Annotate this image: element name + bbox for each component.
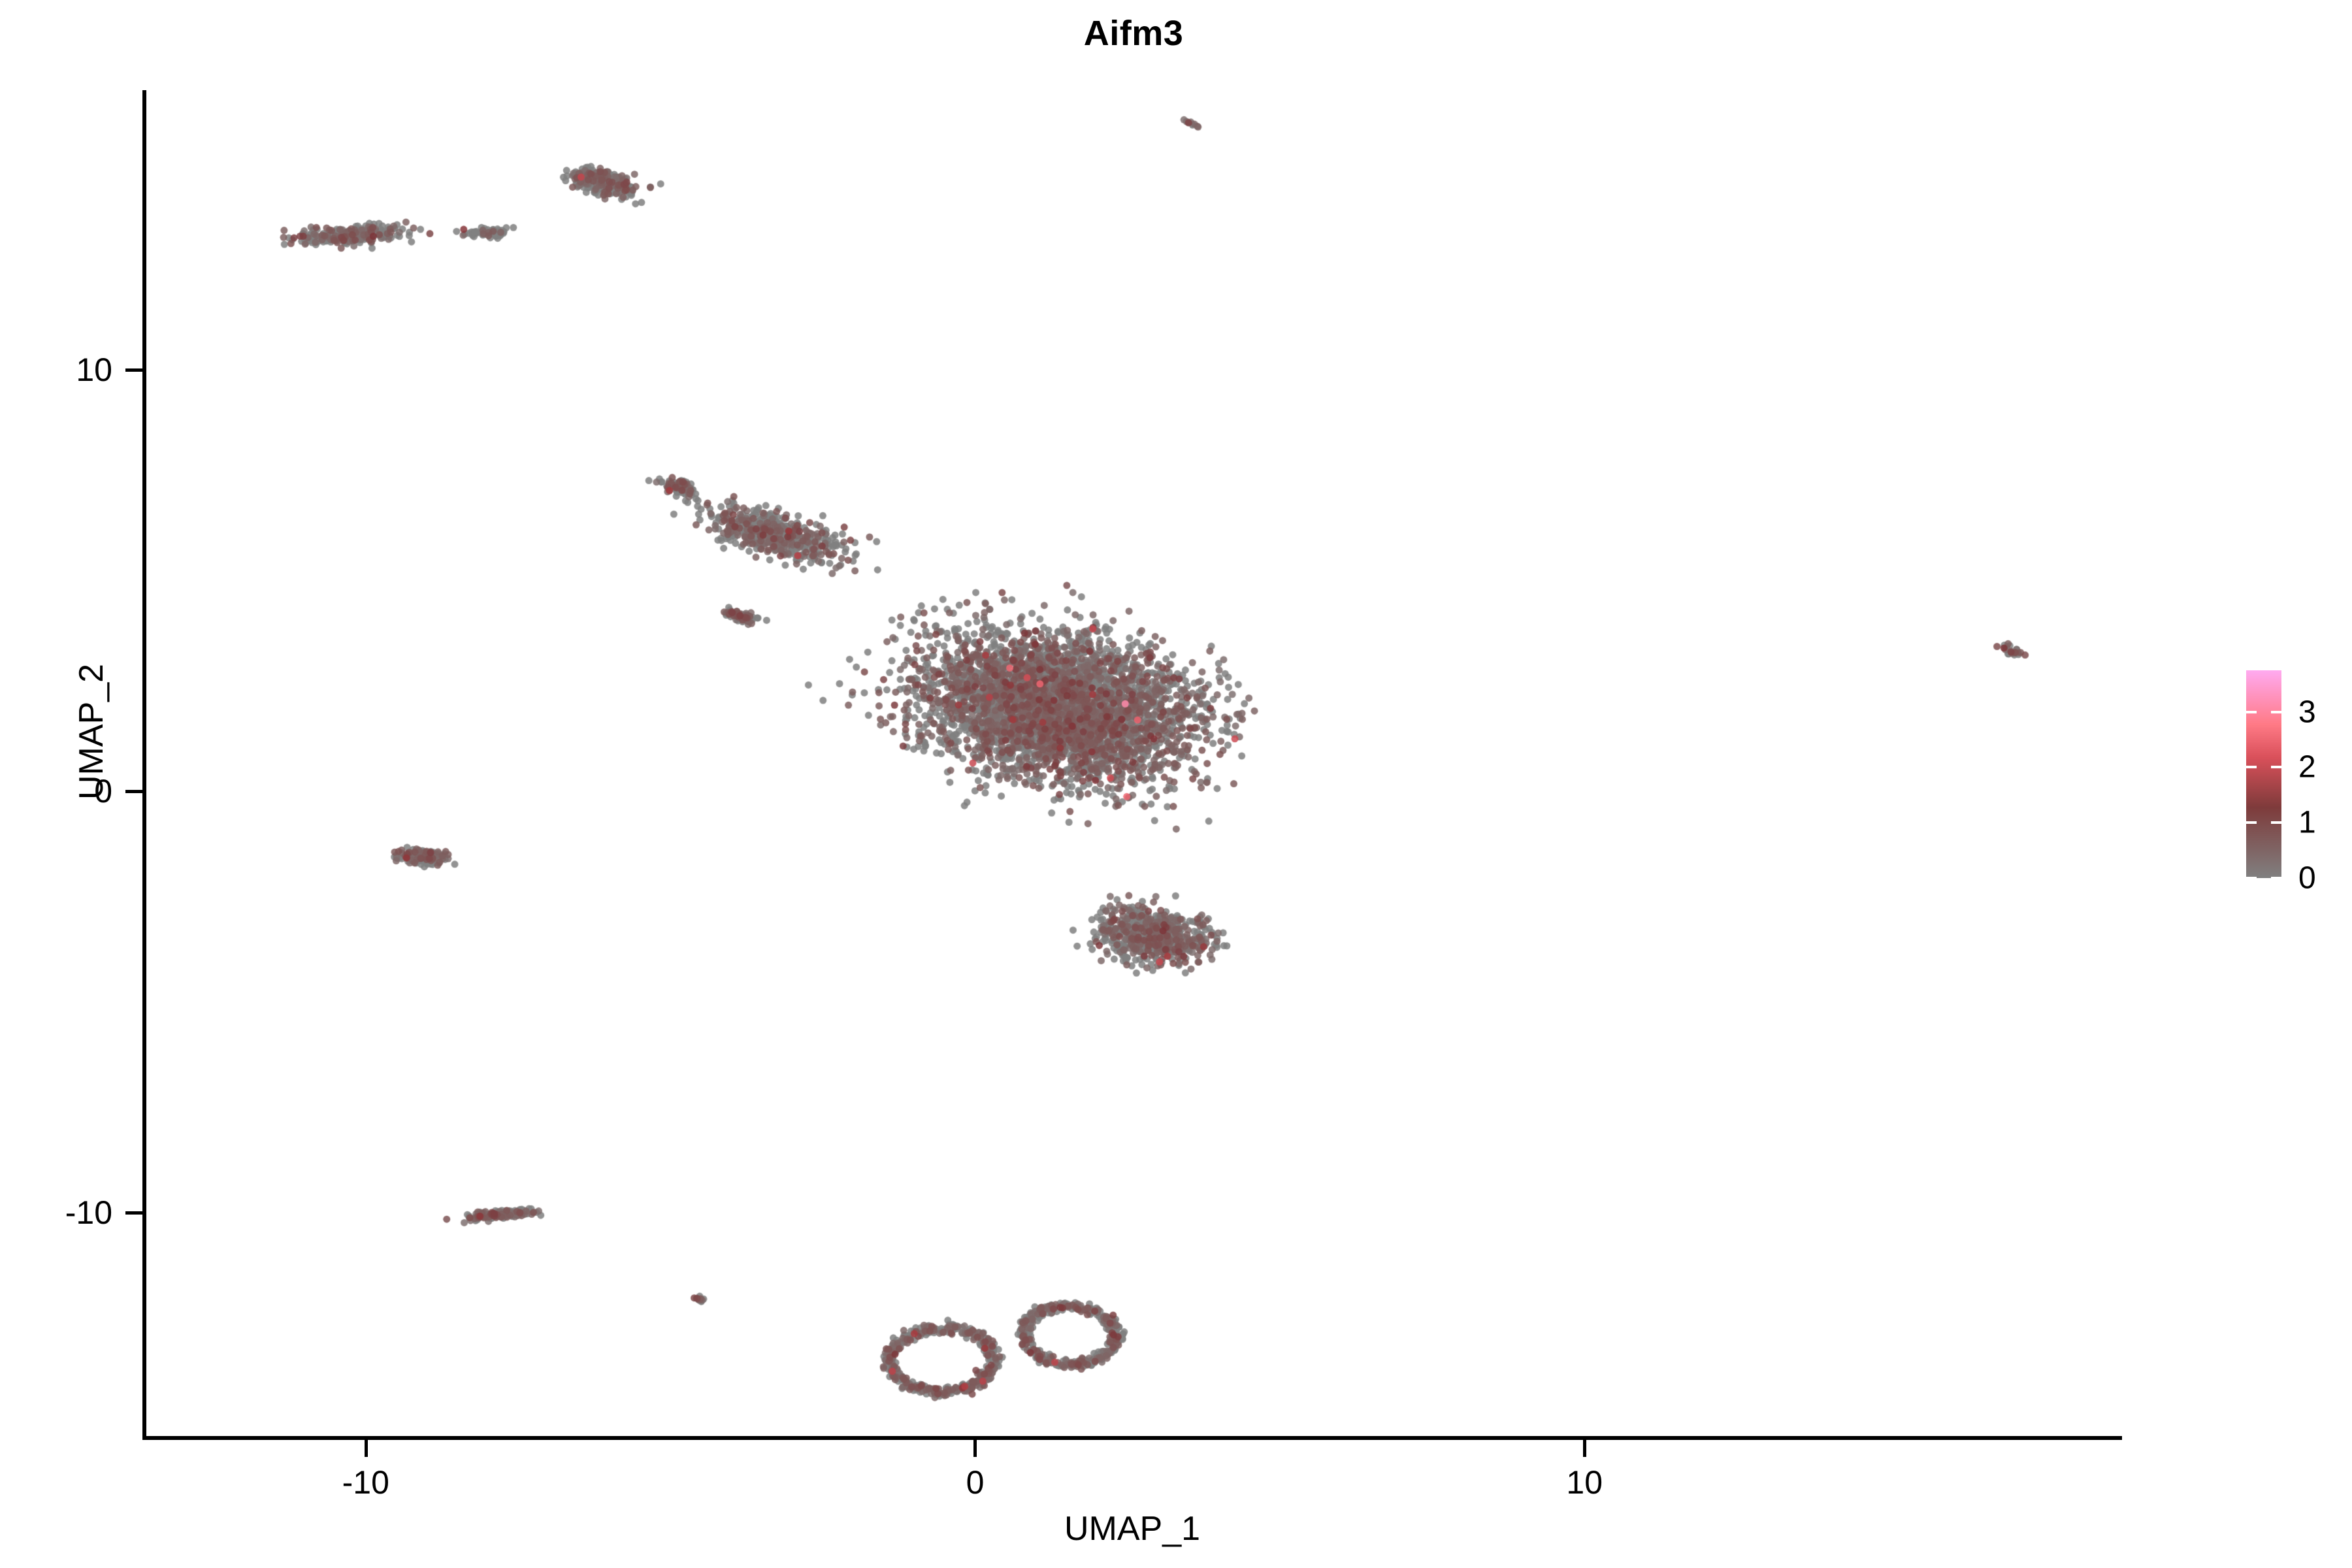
colorbar-tick-mark <box>2271 711 2281 713</box>
x-axis-line <box>142 1436 2122 1440</box>
y-tick-mark <box>125 368 142 372</box>
colorbar-tick-label: 2 <box>2298 749 2316 785</box>
x-tick-mark <box>365 1440 368 1457</box>
plot-panel <box>146 91 2121 1436</box>
colorbar-tick-mark <box>2271 766 2281 768</box>
y-axis-title: UMAP_2 <box>72 13 111 1450</box>
legend-colorbar-group: 3210 <box>2246 670 2351 886</box>
colorbar-tick-mark <box>2271 821 2281 824</box>
scatter-points-layer <box>146 91 2121 1436</box>
colorbar-tick-mark <box>2246 766 2257 768</box>
colorbar-tick-label: 0 <box>2298 860 2316 896</box>
colorbar-tick-label: 3 <box>2298 694 2316 730</box>
x-tick-label: 0 <box>966 1463 985 1501</box>
x-tick-mark <box>973 1440 977 1457</box>
colorbar-tick-mark <box>2271 877 2281 879</box>
x-axis-title: UMAP_1 <box>142 1509 2122 1548</box>
colorbar-tick-mark <box>2246 877 2257 879</box>
colorbar-tick-mark <box>2246 821 2257 824</box>
x-tick-mark <box>1583 1440 1586 1457</box>
colorbar-gradient <box>2246 670 2281 878</box>
colorbar-tick-label: 1 <box>2298 805 2316 841</box>
x-tick-label: -10 <box>342 1463 389 1501</box>
x-tick-label: 10 <box>1566 1463 1603 1501</box>
page-title: Aifm3 <box>0 13 2267 54</box>
y-tick-mark <box>125 790 142 793</box>
y-tick-mark <box>125 1211 142 1215</box>
colorbar-tick-mark <box>2246 711 2257 713</box>
y-axis-line <box>142 90 146 1440</box>
umap-feature-plot: Aifm3 -10010 -10010 UMAP_1 UMAP_2 3210 <box>0 0 2352 1568</box>
